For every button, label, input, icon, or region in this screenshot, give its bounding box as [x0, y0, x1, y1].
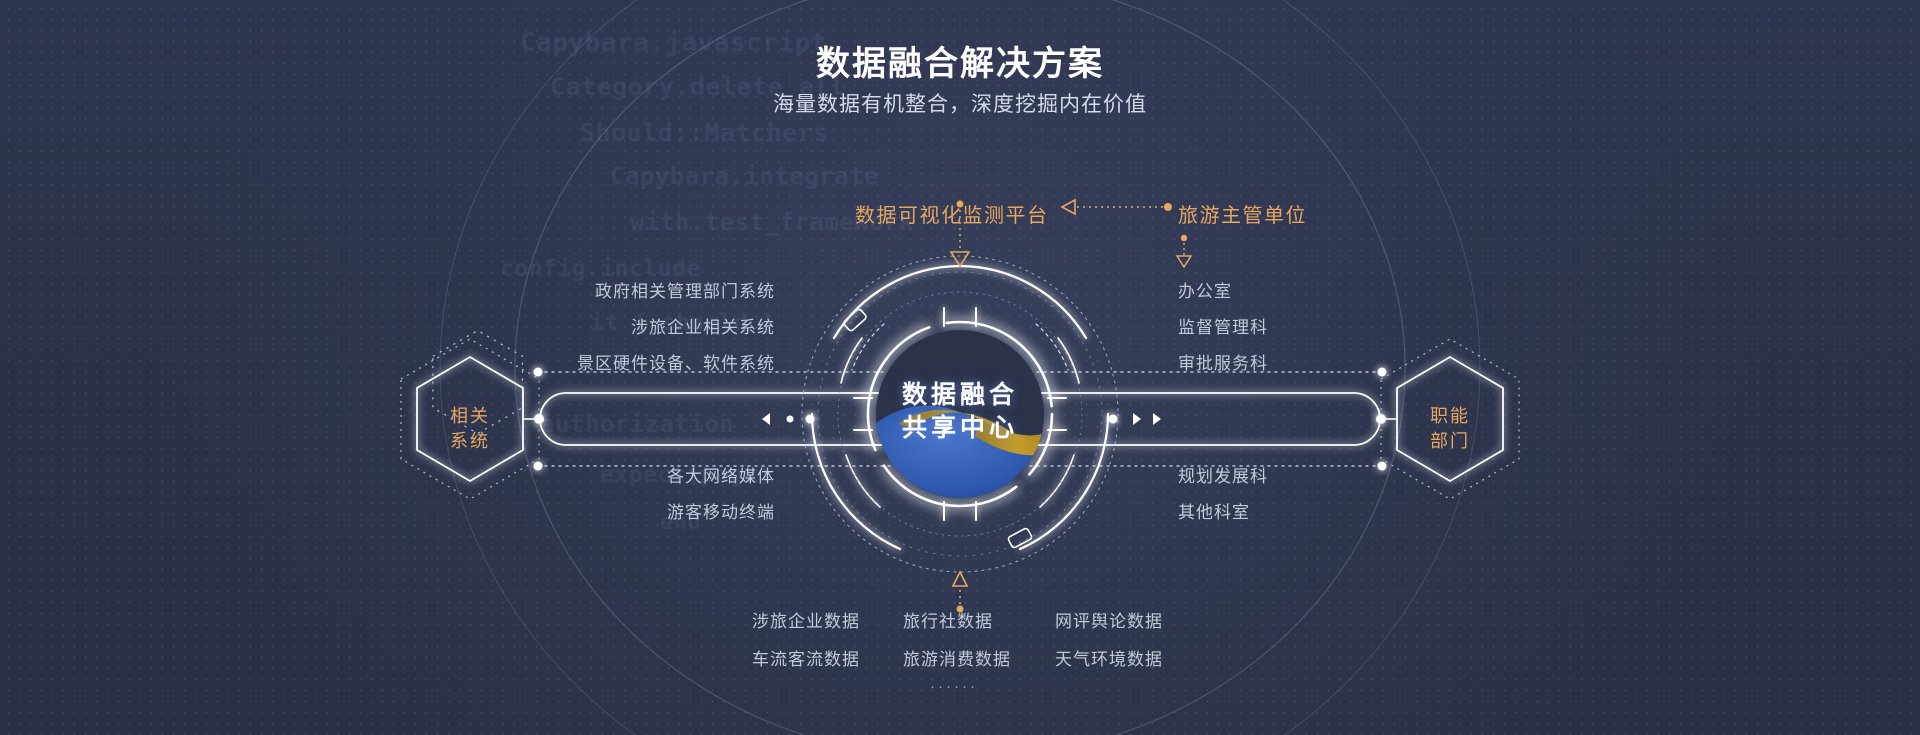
label-tourism-authority: 旅游主管单位	[1178, 199, 1307, 228]
left-upper-item: 政府相关管理部门系统	[595, 277, 775, 302]
left-lower-item: 各大网络媒体	[667, 462, 775, 487]
bottom-item: 旅游消费数据	[903, 645, 1011, 670]
hex-label-left: 相关 系统	[420, 404, 520, 454]
bottom-item: 旅行社数据	[903, 607, 993, 632]
hex-label-left-line2: 系统	[420, 429, 520, 454]
bottom-item: 天气环境数据	[1055, 645, 1163, 670]
top-arrow-authority	[1062, 200, 1172, 214]
hex-label-right-line2: 部门	[1400, 429, 1500, 454]
left-upper-item: 景区硬件设备、软件系统	[577, 349, 775, 374]
infographic-canvas: Capybara.javascript Category.delete_all …	[0, 0, 1920, 735]
left-lower-item: 游客移动终端	[667, 498, 775, 523]
page-title: 数据融合解决方案	[0, 36, 1920, 85]
hex-label-left-line1: 相关	[420, 404, 520, 429]
right-lower-item: 其他科室	[1178, 498, 1250, 523]
label-visualization-platform: 数据可视化监测平台	[855, 199, 1049, 228]
center-label-line1: 数据融合	[860, 379, 1060, 412]
center-label: 数据融合 共享中心	[860, 379, 1060, 445]
bottom-ellipsis: ······	[930, 678, 978, 695]
center-label-line2: 共享中心	[860, 412, 1060, 445]
page-subtitle: 海量数据有机整合，深度挖掘内在价值	[0, 88, 1920, 118]
hex-label-right: 职能 部门	[1400, 404, 1500, 454]
right-upper-item: 监督管理科	[1178, 313, 1268, 338]
hex-label-right-line1: 职能	[1400, 404, 1500, 429]
right-upper-item: 办公室	[1178, 277, 1232, 302]
right-upper-item: 审批服务科	[1178, 349, 1268, 374]
bottom-item: 车流客流数据	[752, 645, 860, 670]
authority-down-arrow	[1177, 235, 1191, 267]
bottom-item: 涉旅企业数据	[752, 607, 860, 632]
right-lower-item: 规划发展科	[1178, 462, 1268, 487]
left-upper-item: 涉旅企业相关系统	[631, 313, 775, 338]
bottom-item: 网评舆论数据	[1055, 607, 1163, 632]
